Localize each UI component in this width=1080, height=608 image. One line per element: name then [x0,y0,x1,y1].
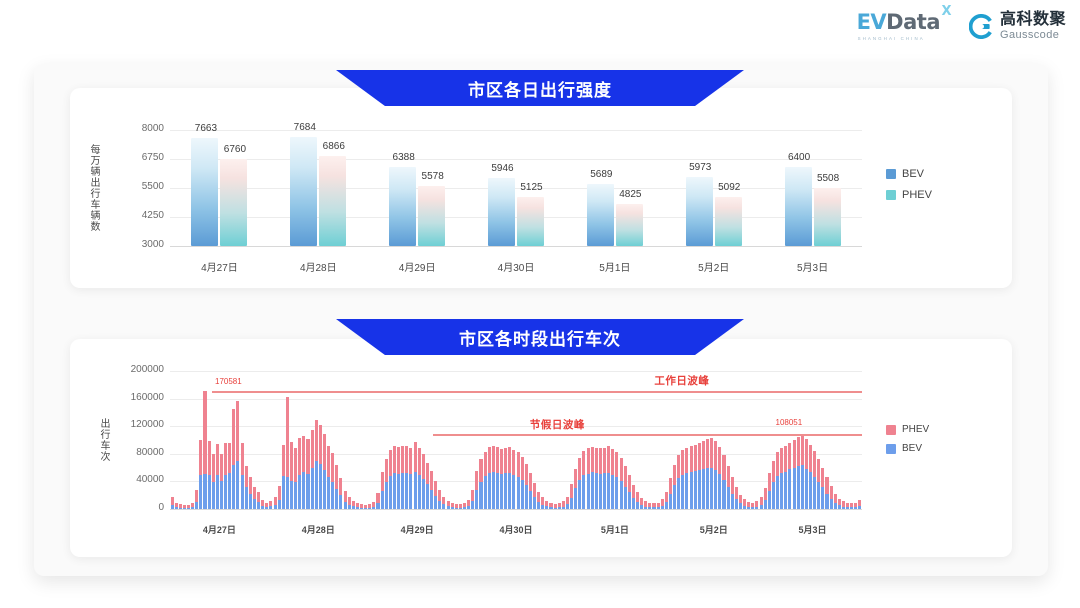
chart2-y-tick: 0 [112,502,164,513]
chart2-stacked-bar [599,448,602,509]
chart2-seg-phev [339,478,342,495]
chart2-seg-bev [385,482,388,509]
chart2-seg-phev [306,439,309,474]
chart2-stacked-bar [274,497,277,509]
chart2-seg-phev [780,448,783,473]
chart2-seg-phev [698,443,701,470]
chart1-y-tick: 6750 [112,152,164,163]
chart1-bar-value-label: 6760 [219,144,250,155]
chart2-seg-phev [393,446,396,473]
chart2-seg-phev [690,446,693,472]
chart2-stacked-bar [731,477,734,509]
chart2-seg-bev [681,475,684,509]
chart2-seg-bev [677,478,680,509]
chart2-seg-phev [541,497,544,504]
chart2-stacked-bar [673,465,676,509]
chart2-seg-phev [620,458,623,481]
chart2-seg-bev [463,507,466,509]
chart2-seg-phev [624,466,627,487]
chart2-seg-bev [793,468,796,509]
chart2-stacked-bar [179,504,182,509]
chart1-x-tick: 4月30日 [476,259,556,274]
chart2-stacked-bar [652,503,655,509]
gausscode-logo: 高科数聚 Gausscode [969,12,1066,41]
chart2-seg-phev [232,409,235,465]
chart2-seg-phev [434,481,437,496]
chart2-stacked-bar [562,501,565,509]
chart2-seg-phev [710,438,713,468]
chart2-y-axis-title: 出行车次 [96,367,111,513]
chart1-bar-bev [488,178,515,246]
chart2-seg-bev [442,504,445,509]
chart2-gridline [170,509,862,510]
chart2-seg-bev [315,461,318,509]
chart2-seg-phev [615,452,618,477]
chart2-seg-bev [541,505,544,509]
chart2-seg-phev [286,397,289,478]
chart2-seg-phev [834,494,837,503]
chart2-stacked-bar [854,503,857,509]
chart2-stacked-bar [710,438,713,509]
chart2-seg-phev [385,459,388,482]
chart2-seg-phev [220,454,223,482]
chart2-stacked-bar [838,499,841,509]
chart2-stacked-bar [385,459,388,509]
chart1-bar-value-label: 6388 [388,152,419,163]
chart2-seg-phev [718,447,721,474]
chart1-bar-value-label: 5092 [714,182,745,193]
chart2-stacked-bar [665,492,668,509]
chart2-seg-bev [706,468,709,509]
chart2-seg-bev [504,473,507,509]
chart2-seg-phev [224,443,227,474]
chart2-seg-bev [788,469,791,509]
chart2-stacked-bar [479,459,482,509]
chart2-seg-bev [772,482,775,509]
chart2-seg-bev [648,507,651,509]
chart2-seg-bev [199,475,202,510]
chart2-seg-bev [306,474,309,509]
chart2-seg-bev [488,473,491,509]
chart2-seg-phev [636,492,639,502]
chart2-seg-bev [640,505,643,509]
chart2-stacked-bar [191,503,194,509]
chart2-seg-phev [475,471,478,490]
chart2-seg-bev [838,505,841,509]
chart2-seg-bev [245,487,248,509]
chart2-stacked-bar [393,446,396,509]
chart2-stacked-bar [620,458,623,509]
chart2-seg-bev [389,476,392,509]
chart2-seg-phev [821,468,824,488]
chart2-stacked-bar [298,438,301,509]
chart2-stacked-bar [504,448,507,509]
chart2-stacked-bar [636,492,639,509]
chart2-seg-bev [269,506,272,509]
chart2-stacked-bar [727,466,730,509]
chart2-x-tick: 4月28日 [278,523,358,536]
chart1-y-tick: 5500 [112,181,164,192]
chart2-seg-phev [793,440,796,468]
chart2-stacked-bar [261,500,264,509]
chart2-gridline [170,371,862,372]
chart2-seg-bev [401,473,404,509]
chart2-stacked-bar [459,504,462,509]
chart2-legend-label: BEV [902,443,922,454]
chart2-seg-bev [360,508,363,509]
chart2-seg-phev [302,436,305,473]
evdata-wordmark: EVDataX [857,12,940,33]
chart2-seg-bev [533,497,536,509]
chart2-stacked-bar [199,440,202,509]
chart2-stacked-bar [776,452,779,509]
chart2-stacked-bar [311,430,314,509]
chart2-seg-bev [298,475,301,509]
chart2-stacked-bar [496,447,499,509]
chart2-seg-bev [344,502,347,509]
chart2-seg-bev [241,475,244,509]
chart2-seg-bev [257,502,260,509]
chart2-stacked-bar [714,441,717,509]
chart2-seg-phev [401,446,404,473]
chart2-seg-bev [797,466,800,509]
chart2-holiday-peak-label: 节假日波峰 [530,417,585,432]
chart2-stacked-bar [595,448,598,509]
chart1-gridline [170,217,862,218]
chart2-seg-bev [690,472,693,509]
chart1-gridline [170,159,862,160]
chart2-seg-bev [475,490,478,509]
chart2-stacked-bar [508,447,511,509]
chart2-seg-bev [710,468,713,509]
chart2-stacked-bar [282,445,285,509]
chart2-seg-bev [228,473,231,509]
chart1-bar-value-label: 4825 [615,189,646,200]
chart2-stacked-bar [253,487,256,509]
chart2-legend-swatch [886,425,896,435]
chart2-seg-bev [253,499,256,509]
chart2-seg-bev [578,480,581,509]
chart2-stacked-bar [422,454,425,509]
chart2-stacked-bar [224,443,227,509]
chart2-seg-phev [739,495,742,504]
evdata-x-icon: X [941,5,951,18]
chart2-seg-phev [611,449,614,475]
chart2-seg-phev [484,452,487,477]
chart2-stacked-bar [722,455,725,509]
chart2-stacked-bar [809,445,812,509]
chart2-seg-bev [582,475,585,509]
chart2-seg-bev [368,508,371,509]
chart2-stacked-bar [249,477,252,509]
chart2-seg-bev [208,475,211,509]
chart2-seg-bev [187,508,190,509]
chart2-seg-bev [479,482,482,509]
chart2-seg-phev [731,477,734,494]
chart1-x-tick: 4月27日 [179,259,259,274]
chart2-stacked-bar [702,441,705,509]
logo-divider [954,14,955,40]
chart2-seg-bev [685,473,688,509]
chart2-stacked-bar [228,443,231,509]
chart2-seg-bev [842,507,845,509]
chart2-seg-phev [722,455,725,480]
chart2-stacked-bar [212,454,215,509]
chart2-stacked-bar [183,505,186,509]
chart2-seg-bev [801,465,804,509]
chart2-seg-phev [764,488,767,500]
chart2-seg-phev [706,439,709,468]
chart2-seg-phev [673,465,676,485]
chart2-seg-bev [335,489,338,509]
chart2-seg-bev [471,501,474,509]
chart2-seg-bev [496,473,499,509]
chart2-seg-bev [459,508,462,509]
chart2-seg-bev [265,507,268,509]
chart2-seg-phev [208,441,211,475]
chart2-seg-phev [805,439,808,468]
chart2-weekday-peak-line [212,391,862,393]
chart2-seg-bev [558,507,561,509]
chart2-seg-bev [323,470,326,509]
chart2-seg-bev [661,506,664,509]
chart1-legend: BEVPHEV [886,168,932,210]
chart2-stacked-bar [607,446,610,509]
chart2-seg-bev [735,499,738,508]
chart2-seg-phev [825,477,828,494]
chart2-stacked-bar [718,447,721,509]
chart2-stacked-bar [529,473,532,509]
chart2-seg-bev [817,482,820,509]
chart1-legend-swatch [886,190,896,200]
chart2-stacked-bar [348,497,351,509]
chart2-stacked-bar [376,493,379,509]
chart2-stacked-bar [632,485,635,509]
chart2-seg-bev [611,475,614,509]
chart1-bar-value-label: 7663 [190,123,221,134]
chart2-seg-bev [422,479,425,509]
chart1-bar-value-label: 5508 [813,173,844,184]
chart2-seg-bev [492,472,495,509]
evdata-logo: EVDataX SHANGHAI CHINA [857,12,940,41]
chart2-seg-bev [846,507,849,509]
chart2-seg-bev [768,491,771,509]
chart2-holiday-peak-value: 108051 [776,418,803,427]
chart2-seg-bev [529,491,532,509]
chart2-seg-phev [418,448,421,475]
chart2-seg-bev [821,487,824,509]
chart2-seg-phev [315,420,318,461]
chart2-seg-bev [669,494,672,509]
chart2-seg-phev [253,487,256,499]
chart2-legend-item[interactable]: PHEV [886,424,929,435]
chart1-x-tick: 5月3日 [773,259,853,274]
chart2-seg-bev [652,507,655,509]
chart2-stacked-bar [364,505,367,509]
chart2-seg-phev [599,448,602,474]
chart2-seg-bev [447,506,450,509]
chart2-seg-phev [389,450,392,476]
chart1-legend-item[interactable]: BEV [886,168,932,180]
chart2-stacked-bar [603,448,606,509]
chart2-seg-phev [727,466,730,487]
chart2-seg-phev [578,458,581,480]
chart2-stacked-bar [290,442,293,509]
chart2-stacked-bar [484,452,487,509]
chart2-seg-bev [834,503,837,509]
chart2-stacked-bar [545,501,548,509]
chart2-seg-bev [236,461,239,509]
chart2-stacked-bar [706,439,709,509]
chart2-stacked-bar [381,472,384,509]
chart2-seg-phev [319,425,322,465]
chart2-seg-phev [838,499,841,506]
chart2-seg-phev [508,447,511,473]
chart1-legend-item[interactable]: PHEV [886,189,932,201]
chart2-seg-bev [451,507,454,509]
chart2-seg-bev [249,494,252,509]
chart2-weekday-peak-label: 工作日波峰 [654,373,709,388]
chart2-stacked-bar [451,503,454,509]
chart2-seg-bev [595,473,598,509]
chart2-stacked-bar [850,503,853,509]
chart1-bar-phev [715,197,742,246]
gausscode-en-name: Gausscode [1000,30,1066,41]
chart2-stacked-bar [414,442,417,509]
chart2-stacked-bar [640,498,643,509]
chart2-seg-bev [698,470,701,509]
chart2-seg-bev [620,481,623,509]
chart2-stacked-bar [657,503,660,509]
chart2-stacked-bar [455,504,458,509]
chart2-seg-phev [245,466,248,488]
chart2-stacked-bar [208,441,211,509]
chart2-stacked-bar [467,500,470,509]
chart2-stacked-bar [582,451,585,509]
chart2-stacked-bar [735,487,738,509]
chart2-stacked-bar [331,453,334,509]
chart2-seg-phev [500,449,503,474]
brand-logo-bar: EVDataX SHANGHAI CHINA 高科数聚 Gausscode [857,12,1066,41]
chart1-bar-value-label: 5578 [417,171,448,182]
chart2-stacked-bar [764,488,767,509]
chart2-seg-bev [825,494,828,509]
chart2-seg-phev [199,440,202,475]
chart2-stacked-bar [315,420,318,509]
chart1-bar-bev [389,167,416,246]
chart2-seg-bev [224,475,227,509]
chart2-stacked-bar [817,459,820,509]
chart2-legend-label: PHEV [902,424,929,435]
chart2-seg-bev [760,505,763,509]
chart2-seg-phev [521,457,524,481]
chart2-legend-item[interactable]: BEV [886,443,929,454]
chart2-seg-phev [430,471,433,490]
chart2-stacked-bar [294,448,297,509]
chart2-seg-phev [331,453,334,482]
chart2-seg-bev [570,498,573,509]
chart2-seg-bev [537,502,540,509]
evdata-ev-text: EV [857,10,887,34]
chart2-seg-phev [405,446,408,473]
chart2-seg-phev [677,455,680,478]
chart1-gridline [170,130,862,131]
chart2-seg-bev [714,470,717,509]
chart2-seg-bev [587,474,590,509]
chart2-seg-phev [216,444,219,475]
chart2-seg-bev [467,506,470,509]
banner-hourly-trips: 市区各时段出行车次 [336,319,744,355]
chart1-x-tick: 5月2日 [674,259,754,274]
chart2-seg-phev [471,490,474,501]
chart2-seg-bev [776,476,779,509]
chart2-seg-bev [628,492,631,509]
chart2-seg-bev [718,474,721,509]
chart2-seg-phev [282,445,285,476]
chart2-seg-bev [722,480,725,509]
chart2-seg-phev [603,448,606,474]
chart2-stacked-bar [788,443,791,509]
chart2-stacked-bar [409,448,412,509]
chart2-seg-bev [286,477,289,508]
chart2-stacked-bar [747,502,750,509]
chart2-stacked-bar [825,477,828,509]
chart2-seg-bev [562,507,565,509]
chart2-stacked-bar [685,448,688,509]
chart2-y-tick: 40000 [112,474,164,485]
chart2-seg-phev [632,485,635,498]
chart2-seg-phev [801,434,804,465]
chart2-seg-bev [261,506,264,509]
chart2-seg-phev [249,477,252,494]
chart2-seg-phev [665,492,668,502]
chart2-seg-phev [512,450,515,476]
chart2-seg-bev [175,507,178,509]
chart2-seg-bev [517,477,520,509]
chart2-seg-bev [599,474,602,509]
chart2-seg-bev [220,481,223,509]
chart2-stacked-bar [327,446,330,509]
chart1-bar-value-label: 5973 [685,162,716,173]
chart-hourly-trip-count: 出行车次040000800001200001600002000004月27日4月… [70,339,1012,557]
chart2-stacked-bar [302,436,305,509]
chart1-y-tick: 8000 [112,123,164,134]
chart2-stacked-bar [780,448,783,509]
chart2-y-tick: 80000 [112,447,164,458]
chart2-seg-bev [356,507,359,509]
chart2-seg-phev [517,452,520,477]
chart2-stacked-bar [442,497,445,509]
chart2-seg-bev [364,508,367,509]
chart2-seg-phev [274,497,277,505]
chart2-stacked-bar [694,445,697,509]
chart2-stacked-bar [372,502,375,509]
chart2-seg-bev [673,485,676,509]
chart2-seg-bev [352,506,355,509]
chart2-seg-bev [434,496,437,509]
chart2-seg-phev [195,490,198,502]
chart2-x-tick: 4月27日 [179,523,259,536]
chart2-seg-phev [409,448,412,474]
gausscode-text: 高科数聚 Gausscode [1000,12,1066,41]
chart2-seg-bev [397,474,400,509]
chart2-holiday-peak-line [433,434,862,436]
chart2-seg-bev [525,485,528,509]
chart2-seg-phev [414,442,417,471]
chart2-stacked-bar [743,499,746,509]
chart2-stacked-bar [438,490,441,509]
chart2-stacked-bar [755,501,758,509]
